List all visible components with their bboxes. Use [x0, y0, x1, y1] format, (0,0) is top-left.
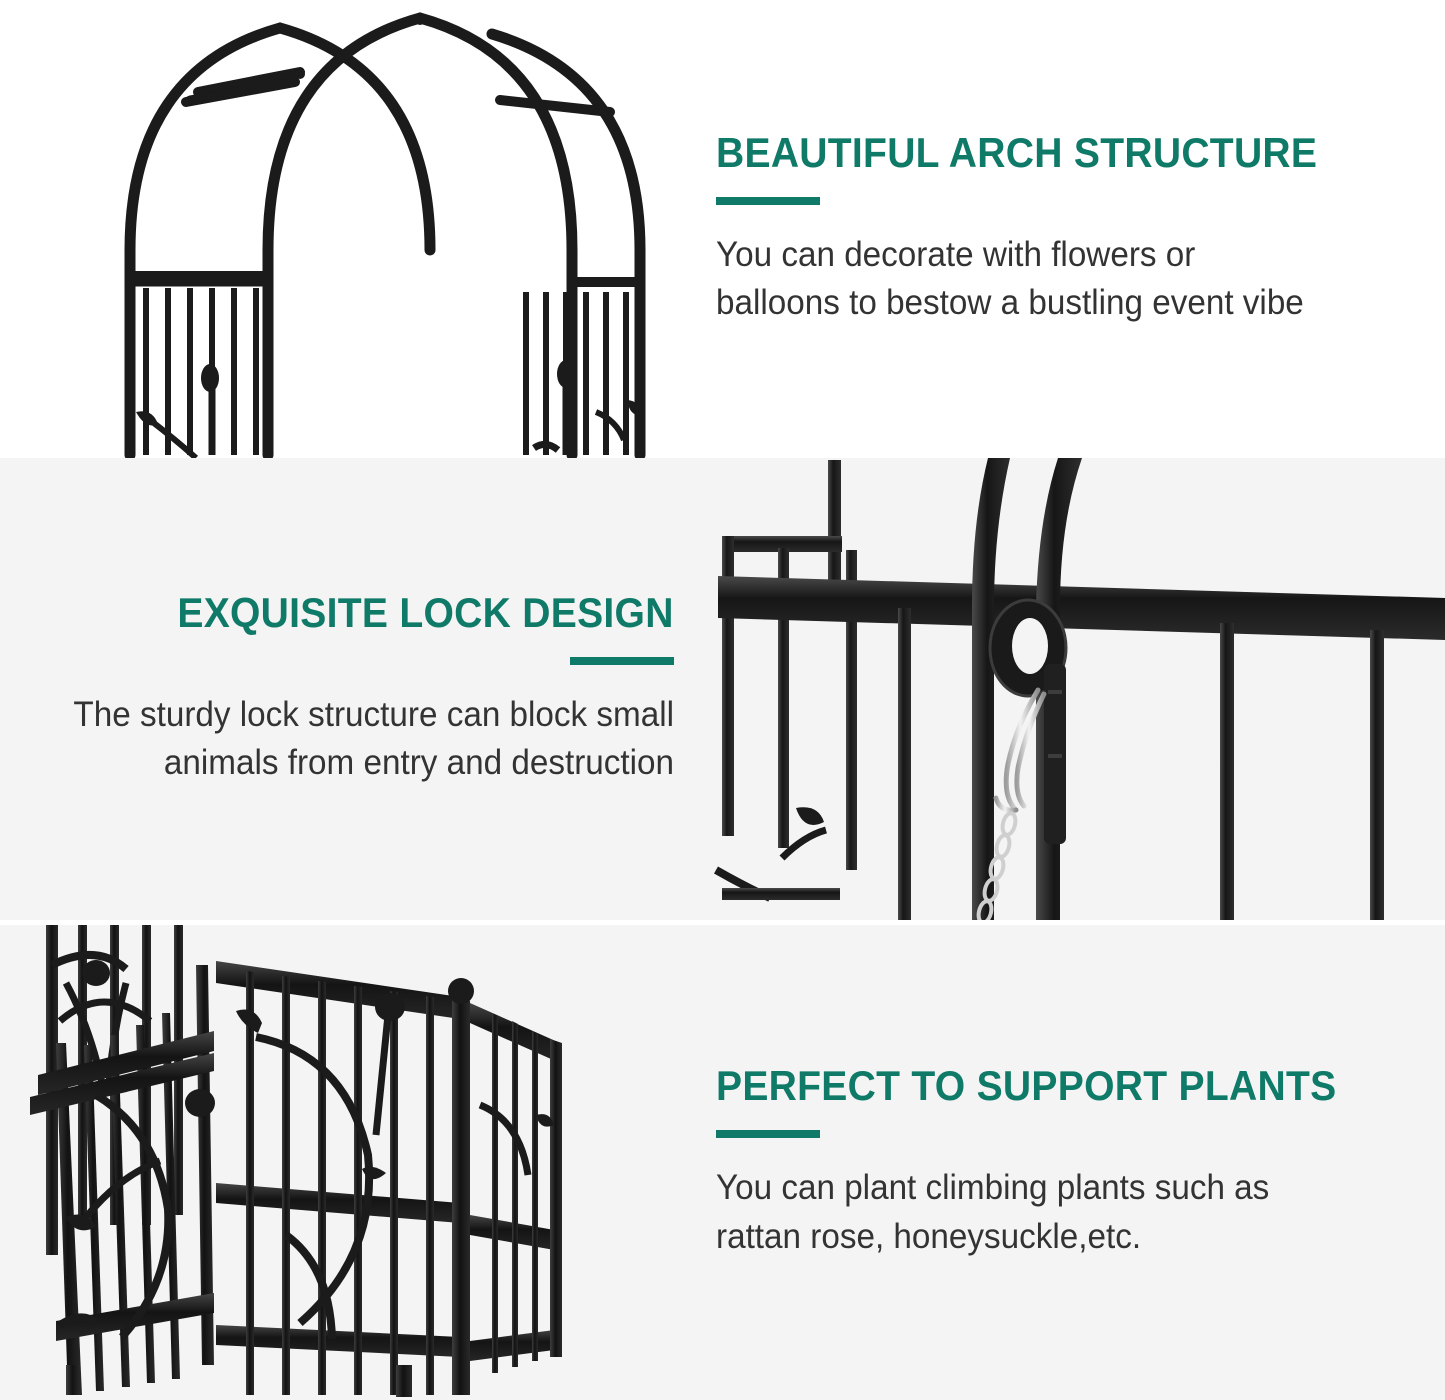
heading-underline-plants	[716, 1130, 820, 1138]
panel-body-lock: The sturdy lock structure can block smal…	[20, 691, 674, 788]
arch-structure-text-block: BEAUTIFUL ARCH STRUCTURE You can decorat…	[700, 0, 1445, 458]
body-line: balloons to bestow a bustling event vibe	[716, 279, 1386, 327]
arch-structure-svg	[0, 0, 700, 458]
feature-panel-arch-structure: BEAUTIFUL ARCH STRUCTURE You can decorat…	[0, 0, 1445, 458]
lock-design-text-block: EXQUISITE LOCK DESIGN The sturdy lock st…	[0, 458, 700, 920]
panel-body-plants: You can plant climbing plants such as ra…	[716, 1164, 1421, 1261]
panel-body-arch: You can decorate with flowers or balloon…	[716, 231, 1421, 328]
lock-detail-photo	[700, 458, 1445, 920]
feature-panel-lock-design: EXQUISITE LOCK DESIGN The sturdy lock st…	[0, 458, 1445, 920]
finial-ball	[448, 978, 474, 1004]
panel-heading-lock: EXQUISITE LOCK DESIGN	[178, 591, 674, 635]
heading-underline-arch	[716, 197, 820, 205]
body-line: rattan rose, honeysuckle,etc.	[716, 1213, 1386, 1261]
panel-heading-arch: BEAUTIFUL ARCH STRUCTURE	[716, 131, 1372, 175]
body-line: You can plant climbing plants such as	[716, 1164, 1386, 1212]
body-line: You can decorate with flowers or	[716, 231, 1386, 279]
latch-plate	[1044, 664, 1066, 844]
fence-panel-photo	[0, 925, 700, 1400]
heading-underline-lock	[570, 657, 674, 665]
body-line: animals from entry and destruction	[53, 739, 674, 787]
arch-structure-illustration	[0, 0, 700, 458]
lock-detail-svg	[700, 458, 1445, 920]
body-line: The sturdy lock structure can block smal…	[53, 691, 674, 739]
support-plants-text-block: PERFECT TO SUPPORT PLANTS You can plant …	[700, 925, 1445, 1400]
fence-panel-svg	[0, 925, 700, 1400]
feature-panel-support-plants: PERFECT TO SUPPORT PLANTS You can plant …	[0, 925, 1445, 1400]
panel-heading-plants: PERFECT TO SUPPORT PLANTS	[716, 1064, 1372, 1108]
